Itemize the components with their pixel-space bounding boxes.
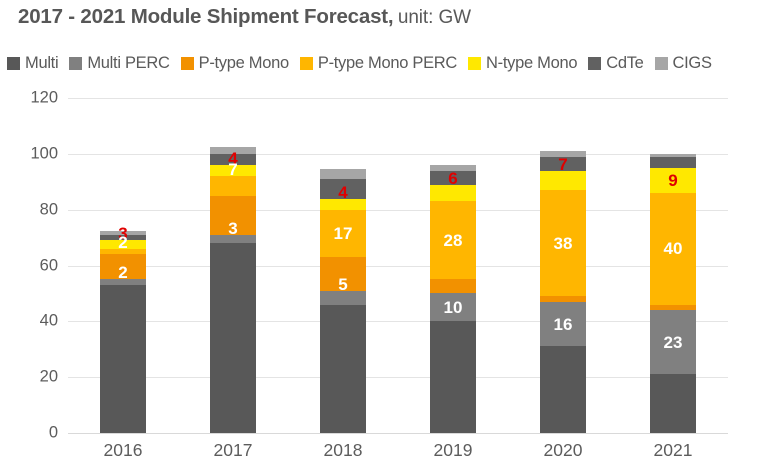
bar-series-container: 3224734175628107381694023 <box>68 98 728 433</box>
bar-value-label: 28 <box>444 232 463 249</box>
legend-item-label: CIGS <box>673 54 712 73</box>
x-axis-label: 2018 <box>308 440 378 461</box>
gridline <box>68 433 728 434</box>
x-axis-label: 2017 <box>198 440 268 461</box>
bar-segment[interactable] <box>100 285 146 433</box>
bar-segment[interactable]: 38 <box>540 190 586 296</box>
legend-item[interactable]: Multi PERC <box>69 54 169 73</box>
bar-segment[interactable] <box>210 154 256 165</box>
bar-segment[interactable] <box>650 157 696 168</box>
bar-segment[interactable] <box>540 157 586 171</box>
bar-value-label: 17 <box>334 225 353 242</box>
legend-swatch-icon <box>588 57 601 70</box>
bar-segment[interactable] <box>320 305 366 433</box>
x-axis-label: 2020 <box>528 440 598 461</box>
chart-title-main: 2017 - 2021 Module Shipment Forecast, <box>18 5 393 28</box>
bar-segment[interactable]: 23 <box>650 310 696 374</box>
bar-segment[interactable] <box>320 257 366 291</box>
bar-segment[interactable]: 7 <box>540 171 586 191</box>
chart-title-unit: unit: GW <box>398 7 471 28</box>
legend-item[interactable]: CdTe <box>588 54 643 73</box>
bar-segment[interactable]: 5 <box>320 291 366 305</box>
bar-segment[interactable]: 40 <box>650 193 696 305</box>
x-axis-label: 2016 <box>88 440 158 461</box>
legend-item-label: Multi <box>25 54 58 73</box>
bar-segment[interactable] <box>540 346 586 433</box>
bar-segment[interactable] <box>650 374 696 433</box>
y-axis-tick-label: 100 <box>30 144 58 163</box>
bar-segment[interactable] <box>430 171 476 185</box>
legend-item-label: P-type Mono PERC <box>318 54 457 73</box>
legend-item-label: CdTe <box>606 54 643 73</box>
bar-segment[interactable]: 6 <box>430 185 476 202</box>
legend-item[interactable]: N-type Mono <box>468 54 577 73</box>
bar-segment[interactable] <box>430 321 476 433</box>
bar-value-label: 10 <box>444 299 463 316</box>
y-axis-ticks: 020406080100120 <box>10 98 58 433</box>
legend-swatch-icon <box>181 57 194 70</box>
bar-column[interactable]: 473 <box>210 147 256 433</box>
bar-segment[interactable] <box>320 169 366 179</box>
legend-item-label: P-type Mono <box>199 54 289 73</box>
bar-segment[interactable] <box>210 243 256 433</box>
bar-segment[interactable]: 4 <box>210 165 256 176</box>
bar-column[interactable]: 62810 <box>430 165 476 433</box>
bar-value-label: 23 <box>664 334 683 351</box>
y-axis-tick-label: 80 <box>40 200 58 219</box>
bar-value-label: 16 <box>554 316 573 333</box>
x-axis-label: 2019 <box>418 440 488 461</box>
bar-column[interactable]: 73816 <box>540 151 586 433</box>
legend-swatch-icon <box>468 57 481 70</box>
y-axis-tick-label: 60 <box>40 256 58 275</box>
legend-swatch-icon <box>69 57 82 70</box>
bar-column[interactable]: 4175 <box>320 169 366 433</box>
bar-segment[interactable]: 9 <box>650 168 696 193</box>
legend-swatch-icon <box>300 57 313 70</box>
legend-item[interactable]: Multi <box>7 54 58 73</box>
chart-root: 2017 - 2021 Module Shipment Forecast, un… <box>0 0 760 475</box>
bar-segment[interactable]: 4 <box>320 199 366 210</box>
bar-column[interactable]: 94023 <box>650 154 696 433</box>
chart-title: 2017 - 2021 Module Shipment Forecast, un… <box>18 6 471 29</box>
legend-item[interactable]: P-type Mono PERC <box>300 54 457 73</box>
plot-area: 3224734175628107381694023 <box>68 98 728 433</box>
bar-segment[interactable] <box>100 254 146 279</box>
legend-item-label: Multi PERC <box>87 54 169 73</box>
legend-item[interactable]: CIGS <box>655 54 712 73</box>
bar-segment[interactable]: 28 <box>430 201 476 279</box>
y-axis-tick-label: 120 <box>30 89 58 108</box>
bar-segment[interactable]: 16 <box>540 302 586 347</box>
bar-value-label: 9 <box>668 172 677 189</box>
legend-swatch-icon <box>655 57 668 70</box>
y-axis-tick-label: 40 <box>40 312 58 331</box>
bar-segment[interactable] <box>430 279 476 293</box>
x-axis-labels: 201620172018201920202021 <box>68 440 728 470</box>
bar-segment[interactable]: 10 <box>430 293 476 321</box>
bar-value-label: 40 <box>664 240 683 257</box>
bar-segment[interactable]: 17 <box>320 210 366 257</box>
bar-segment[interactable] <box>210 147 256 154</box>
bar-segment[interactable] <box>320 179 366 199</box>
y-axis-tick-label: 20 <box>40 368 58 387</box>
chart-legend: MultiMulti PERCP-type MonoP-type Mono PE… <box>7 54 723 73</box>
bar-value-label: 38 <box>554 235 573 252</box>
bar-segment[interactable]: 3 <box>210 235 256 243</box>
legend-item-label: N-type Mono <box>486 54 577 73</box>
bar-column[interactable]: 322 <box>100 231 146 433</box>
bar-segment[interactable]: 7 <box>210 176 256 196</box>
bar-segment[interactable]: 3 <box>100 240 146 248</box>
legend-item[interactable]: P-type Mono <box>181 54 289 73</box>
legend-swatch-icon <box>7 57 20 70</box>
x-axis-label: 2021 <box>638 440 708 461</box>
y-axis-tick-label: 0 <box>49 424 58 443</box>
bar-segment[interactable] <box>210 196 256 235</box>
